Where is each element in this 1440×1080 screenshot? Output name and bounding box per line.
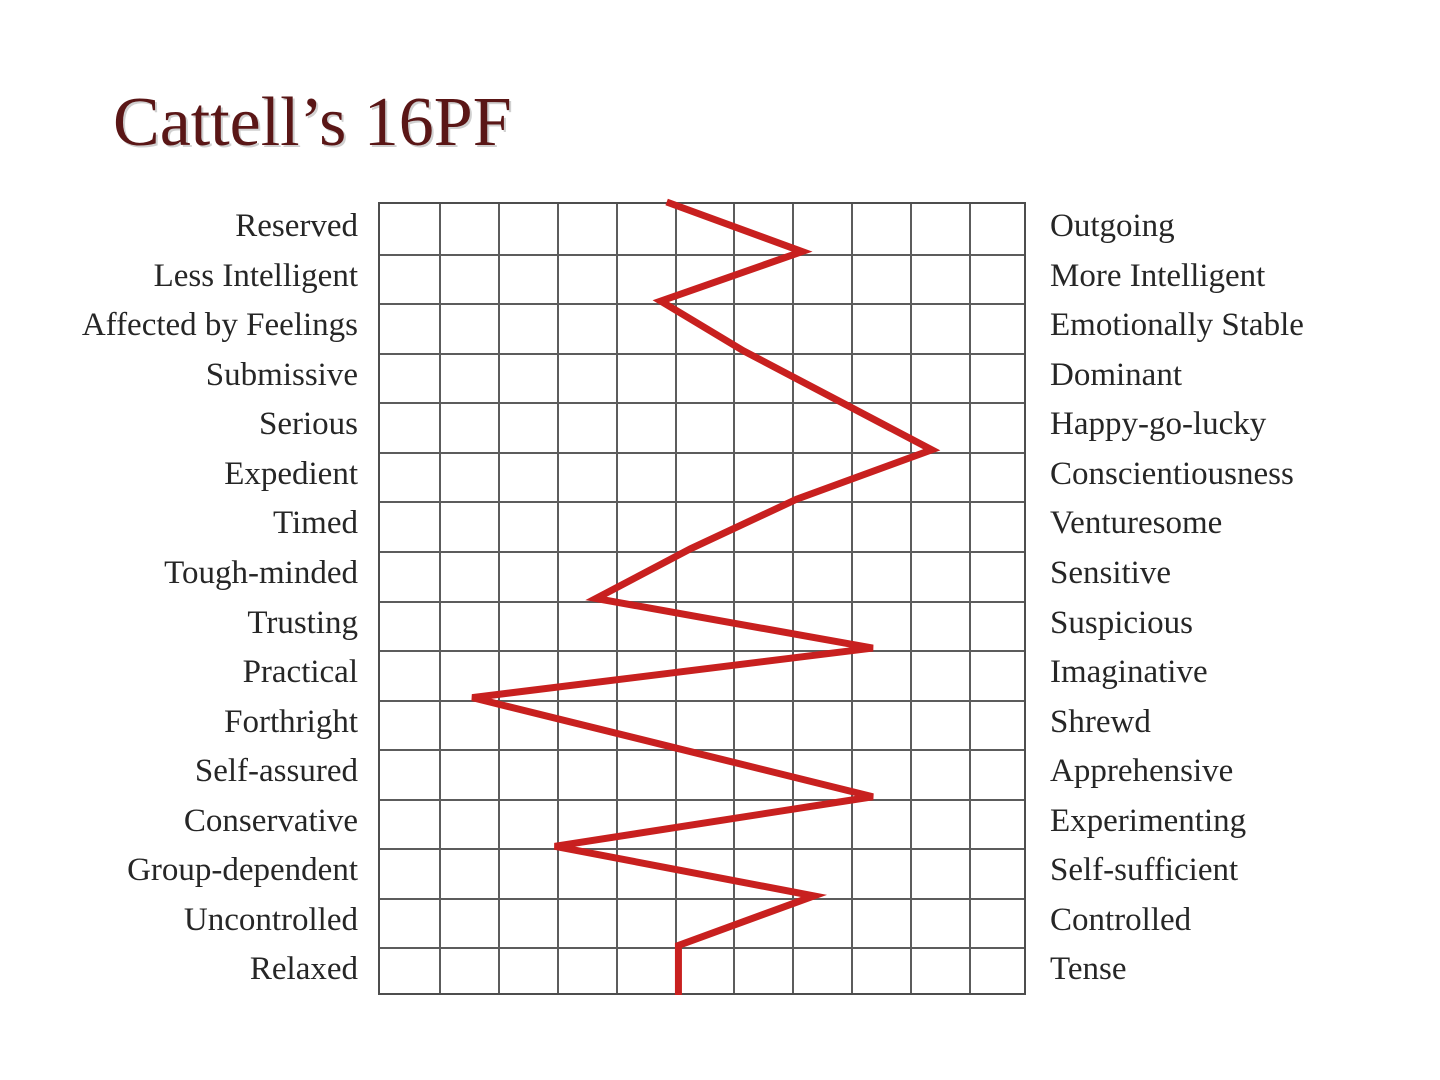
right-pole-label: Apprehensive [1038, 747, 1438, 797]
grid-vline [439, 204, 441, 993]
right-pole-label: Conscientiousness [1038, 450, 1438, 500]
grid-vline [910, 204, 912, 993]
left-pole-label: Reserved [0, 202, 368, 252]
grid-vline [498, 204, 500, 993]
grid-hline [380, 452, 1024, 454]
left-pole-label: Self-assured [0, 747, 368, 797]
right-pole-label: Shrewd [1038, 698, 1438, 748]
grid-vline [969, 204, 971, 993]
grid-hline [380, 947, 1024, 949]
poster-page: Cattell’s 16PF ReservedLess IntelligentA… [0, 0, 1440, 1080]
left-pole-label: Relaxed [0, 945, 368, 995]
right-pole-label: Emotionally Stable [1038, 301, 1438, 351]
grid-hline [380, 601, 1024, 603]
right-pole-label: Suspicious [1038, 599, 1438, 649]
grid-vline [675, 204, 677, 993]
grid-hline [380, 353, 1024, 355]
right-pole-label: Venturesome [1038, 499, 1438, 549]
left-pole-label: Affected by Feelings [0, 301, 368, 351]
grid-hline [380, 650, 1024, 652]
left-pole-label: Practical [0, 648, 368, 698]
right-pole-label: Tense [1038, 945, 1438, 995]
grid-vline [851, 204, 853, 993]
right-pole-labels: OutgoingMore IntelligentEmotionally Stab… [1038, 202, 1438, 995]
grid-vline [792, 204, 794, 993]
left-pole-label: Uncontrolled [0, 896, 368, 946]
right-pole-label: Controlled [1038, 896, 1438, 946]
grid-hline [380, 898, 1024, 900]
right-pole-label: Happy-go-lucky [1038, 400, 1438, 450]
grid-hline [380, 501, 1024, 503]
grid-hline [380, 848, 1024, 850]
grid-vline [557, 204, 559, 993]
left-pole-label: Less Intelligent [0, 252, 368, 302]
right-pole-label: More Intelligent [1038, 252, 1438, 302]
left-pole-label: Tough-minded [0, 549, 368, 599]
grid-hline [380, 402, 1024, 404]
left-pole-label: Forthright [0, 698, 368, 748]
right-pole-label: Self-sufficient [1038, 846, 1438, 896]
left-pole-label: Timed [0, 499, 368, 549]
profile-grid [378, 202, 1026, 995]
left-pole-labels: ReservedLess IntelligentAffected by Feel… [0, 202, 368, 995]
grid-hline [380, 254, 1024, 256]
cattell-16pf-chart: ReservedLess IntelligentAffected by Feel… [0, 0, 1440, 1080]
right-pole-label: Experimenting [1038, 797, 1438, 847]
grid-hline [380, 799, 1024, 801]
grid-vline [616, 204, 618, 993]
grid-vline [733, 204, 735, 993]
grid-hline [380, 551, 1024, 553]
left-pole-label: Conservative [0, 797, 368, 847]
grid-hline [380, 700, 1024, 702]
left-pole-label: Group-dependent [0, 846, 368, 896]
left-pole-label: Trusting [0, 599, 368, 649]
grid-hline [380, 749, 1024, 751]
grid-hline [380, 303, 1024, 305]
right-pole-label: Imaginative [1038, 648, 1438, 698]
left-pole-label: Submissive [0, 351, 368, 401]
right-pole-label: Dominant [1038, 351, 1438, 401]
left-pole-label: Expedient [0, 450, 368, 500]
right-pole-label: Sensitive [1038, 549, 1438, 599]
right-pole-label: Outgoing [1038, 202, 1438, 252]
left-pole-label: Serious [0, 400, 368, 450]
